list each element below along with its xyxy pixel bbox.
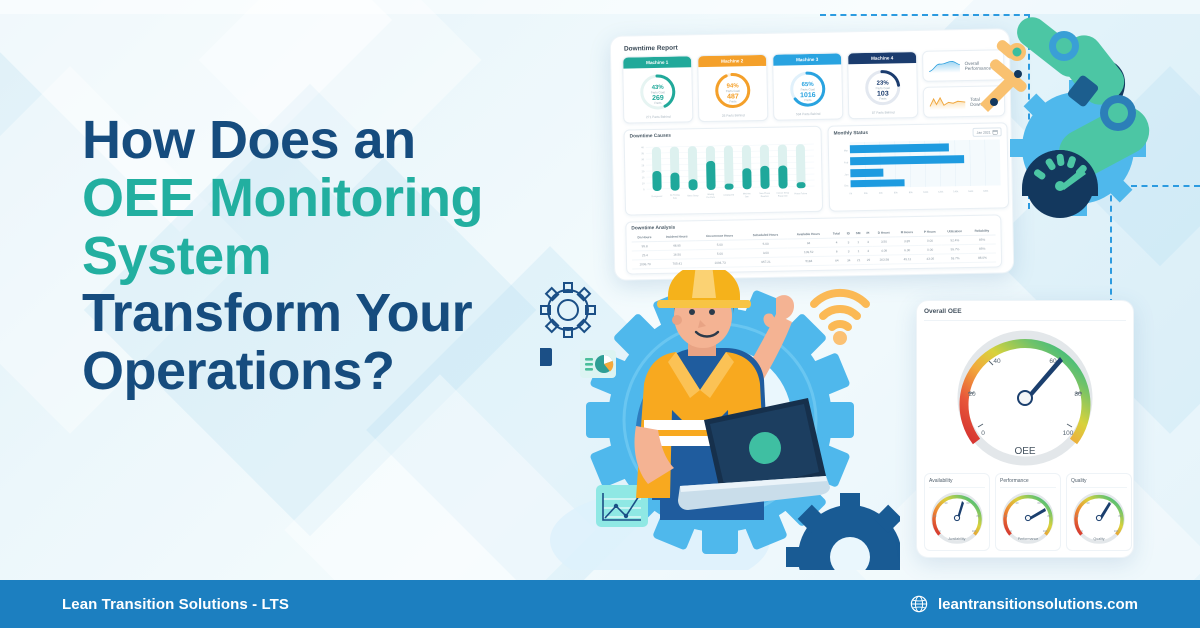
downtime-analysis-panel: Downtime Analysis Dn Hours Incident Hour…	[625, 214, 1002, 274]
td: 53.7%	[941, 254, 968, 264]
quality-title: Quality	[1071, 478, 1127, 488]
svg-text:10: 10	[642, 182, 645, 185]
svg-text:OEE: OEE	[1014, 446, 1035, 457]
robot-arm-illustration	[960, 8, 1190, 238]
title-line-1: How Does an	[82, 112, 602, 170]
quality-card[interactable]: Quality 02040 6080100 Quality	[1066, 473, 1132, 551]
svg-text:0: 0	[981, 430, 985, 437]
td: 3	[844, 238, 853, 247]
availability-card[interactable]: Availability 02040 6080100	[924, 473, 990, 551]
svg-text:40: 40	[993, 358, 1001, 365]
svg-text:Reaction: Reaction	[761, 195, 770, 198]
svg-text:140k: 140k	[953, 191, 959, 193]
svg-text:100: 100	[1043, 529, 1048, 533]
svg-text:100: 100	[1063, 430, 1074, 437]
td: 4.09	[873, 246, 896, 255]
page-title: How Does an OEE Monitoring System Transf…	[82, 112, 602, 401]
td: 1	[853, 247, 864, 256]
td: 88.0%	[969, 253, 996, 263]
banner: How Does an OEE Monitoring System Transf…	[0, 0, 1200, 628]
td: 3	[844, 247, 853, 256]
svg-text:Performance: Performance	[1018, 537, 1039, 541]
machine-card[interactable]: Machine 1 43% Parts Goal 269 Parts 271 P…	[622, 55, 693, 123]
svg-text:Machine: Machine	[743, 193, 752, 195]
monthly-status-title: Monthly Status	[834, 131, 868, 137]
svg-text:Parts: Parts	[879, 97, 887, 101]
donut-chart: 65% Parts Goal 1016 Parts	[787, 69, 828, 110]
downtime-analysis-table: Dn Hours Incident Hours Occurrence Hours…	[631, 226, 996, 269]
td: 1	[853, 238, 864, 247]
svg-text:40: 40	[641, 146, 644, 149]
svg-text:New Phase: New Phase	[759, 193, 771, 195]
svg-text:Waiting: Waiting	[707, 193, 715, 196]
th: ID	[844, 229, 853, 238]
title-line-3: System	[82, 228, 602, 286]
svg-text:60k: 60k	[894, 192, 899, 194]
svg-text:Parts: Parts	[654, 101, 662, 105]
donut-chart: 43% Parts Goal 269 Parts	[637, 72, 678, 113]
td: 957.21	[744, 257, 789, 267]
svg-text:25: 25	[641, 164, 644, 167]
svg-text:Quality: Quality	[1093, 537, 1104, 541]
td: 1006.73	[632, 259, 658, 268]
svg-text:Clean Scrap: Clean Scrap	[687, 194, 699, 197]
td: 4	[829, 238, 844, 247]
footer-brand: Lean Transition Solutions - LTS	[62, 596, 289, 613]
svg-text:For Parts: For Parts	[707, 196, 716, 199]
quality-gauge: 02040 6080100 Quality	[1071, 490, 1127, 546]
svg-text:Mar: Mar	[844, 149, 848, 152]
overall-oee-gauge: 0 20 40 60 80 100	[924, 323, 1126, 473]
td: 21	[853, 256, 864, 265]
gear-outline-icon	[541, 283, 595, 337]
mini-gauge-row: Availability 02040 6080100	[924, 473, 1126, 551]
td: 3.50	[872, 237, 895, 246]
svg-text:Expansion: Expansion	[778, 195, 789, 197]
svg-text:Parts: Parts	[729, 99, 737, 103]
td: 6	[829, 247, 844, 256]
td: 5184	[788, 256, 829, 266]
td: 3.85	[895, 236, 919, 245]
svg-text:100k: 100k	[923, 192, 929, 194]
footer-website[interactable]: leantransitionsolutions.com	[910, 595, 1138, 613]
machine-card[interactable]: Machine 4 23% Parts Goal 103 Parts 87 Pa…	[847, 51, 918, 119]
td: 64	[829, 256, 844, 265]
td: 1094.73	[696, 258, 743, 268]
svg-text:Changeover: Changeover	[651, 195, 663, 198]
svg-text:100: 100	[1114, 529, 1119, 533]
svg-text:80k: 80k	[909, 192, 914, 194]
availability-gauge: 02040 6080100 Availability	[929, 490, 985, 546]
globe-icon	[910, 595, 928, 613]
svg-text:40k: 40k	[879, 193, 884, 195]
td: 0.00	[919, 236, 942, 245]
chip-accent	[540, 348, 552, 366]
blue-area-chart-icon	[928, 57, 961, 76]
svg-text:Availability: Availability	[949, 537, 966, 541]
hard-hat-icon	[657, 270, 751, 308]
th: PI	[863, 229, 872, 238]
td: 263.58	[873, 255, 896, 264]
td: 45.11	[896, 254, 920, 263]
title-line-5: Operations?	[82, 343, 602, 401]
downtime-causes-bar-chart: 403530 252015 105	[630, 138, 817, 206]
availability-title: Availability	[929, 478, 985, 488]
svg-text:Dec: Dec	[844, 184, 849, 187]
svg-text:15: 15	[642, 176, 645, 179]
td: 3	[864, 237, 873, 246]
svg-text:Parts: Parts	[804, 98, 812, 102]
svg-text:0k: 0k	[850, 193, 853, 195]
svg-text:120k: 120k	[938, 191, 944, 193]
footer-website-label: leantransitionsolutions.com	[938, 596, 1138, 613]
machine-card-footer: 534 Parts Behind	[776, 111, 840, 116]
th: SM	[853, 229, 864, 238]
machine-card-row: Machine 1 43% Parts Goal 269 Parts 271 P…	[619, 49, 1002, 123]
td: 29	[864, 255, 873, 264]
svg-text:No Tooling: No Tooling	[670, 195, 681, 197]
td: 705.41	[658, 259, 697, 269]
machine-card-footer: 271 Parts Behind	[626, 114, 690, 119]
downtime-causes-panel: Downtime Causes 403530 252015 105	[623, 126, 823, 216]
overall-oee-panel: Overall OEE 0	[916, 300, 1134, 558]
svg-text:20k: 20k	[864, 193, 869, 195]
machine-card-footer: 28 Parts Behind	[701, 113, 765, 118]
performance-title: Performance	[1000, 478, 1056, 488]
donut-chart: 23% Parts Goal 103 Parts	[862, 67, 903, 108]
svg-text:20: 20	[642, 170, 645, 173]
downtime-report-dashboard: Downtime Report Machine 1 43% Parts Goal…	[610, 28, 1015, 281]
svg-text:100: 100	[972, 529, 977, 533]
svg-text:Feb: Feb	[844, 161, 849, 164]
svg-text:Undetected: Undetected	[723, 193, 735, 196]
factory-worker-illustration	[540, 270, 900, 570]
analysis-wrapper: Downtime Analysis Dn Hours Incident Hour…	[622, 208, 1005, 274]
svg-text:5: 5	[643, 188, 645, 191]
td: 43.05	[919, 254, 942, 263]
performance-gauge: 02040 6080100 Performance	[1000, 490, 1056, 546]
svg-text:Jan: Jan	[845, 173, 850, 176]
td: 3	[864, 246, 873, 255]
td: 34	[844, 256, 853, 265]
th: Total	[829, 229, 844, 238]
svg-text:Correct Setup: Correct Setup	[776, 191, 790, 194]
svg-text:20: 20	[968, 391, 976, 398]
machine-card[interactable]: Machine 2 94% Parts Goal 487 Parts 28 Pa…	[697, 54, 768, 122]
chart-panel-row: Downtime Causes 403530 252015 105	[620, 116, 1004, 215]
td: 0.00	[919, 245, 942, 254]
footer-bar: Lean Transition Solutions - LTS leantran…	[0, 580, 1200, 628]
machine-card[interactable]: Machine 3 65% Parts Goal 1016 Parts 534 …	[772, 52, 843, 120]
svg-text:Avg: Avg	[673, 197, 677, 200]
svg-text:80: 80	[1074, 391, 1082, 398]
svg-text:Jam: Jam	[745, 196, 749, 198]
svg-text:30: 30	[641, 158, 644, 161]
overall-oee-title: Overall OEE	[924, 308, 1126, 321]
title-line-2: OEE Monitoring	[82, 170, 602, 228]
td: 6.00	[895, 245, 919, 254]
title-line-4: Transform Your	[82, 285, 602, 343]
performance-card[interactable]: Performance 02040 6080100 Performance	[995, 473, 1061, 551]
donut-chart: 94% Parts Goal 487 Parts	[712, 70, 753, 111]
svg-text:35: 35	[641, 152, 644, 155]
svg-text:Phase Failure: Phase Failure	[794, 192, 808, 195]
machine-card-footer: 87 Parts Behind	[851, 110, 915, 115]
pie-chart-card-icon	[580, 350, 616, 378]
